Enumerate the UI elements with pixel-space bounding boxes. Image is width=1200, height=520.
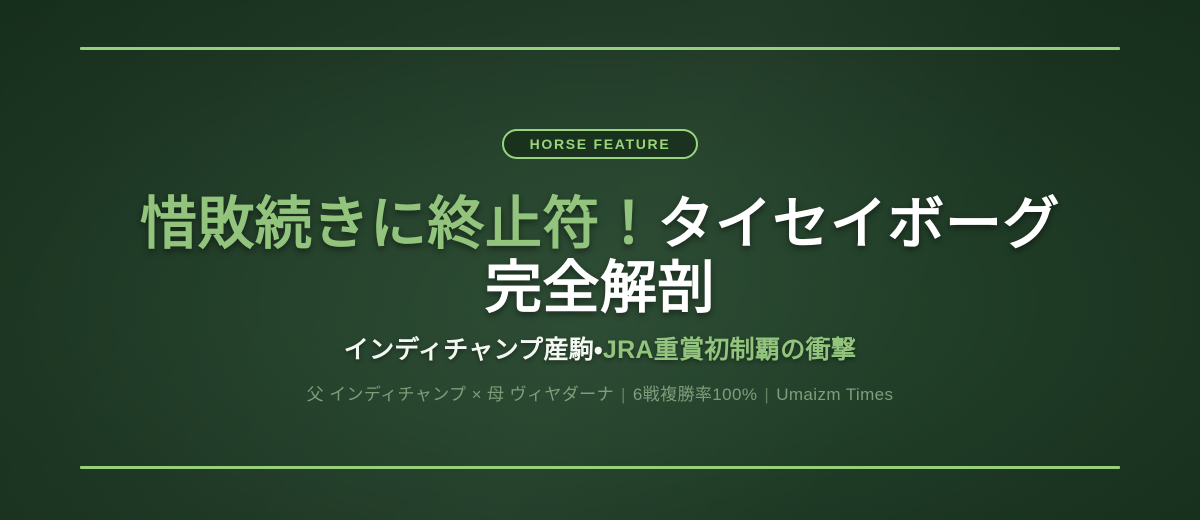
category-badge-label: HORSE FEATURE: [530, 137, 671, 151]
meta-record: 6戦複勝率100%: [633, 385, 758, 404]
meta-cross-symbol: ×: [472, 385, 482, 404]
meta-line: 父 インディチャンプ × 母 ヴィヤダーナ|6戦複勝率100%|Umaizm T…: [50, 384, 1150, 406]
banner-content: HORSE FEATURE 惜敗続きに終止符！タイセイボーグ完全解剖 インディチ…: [0, 0, 1200, 520]
meta-source: Umaizm Times: [776, 385, 893, 404]
meta-separator-2: |: [757, 385, 776, 404]
subtitle-white-segment: インディチャンプ産駒・: [344, 336, 603, 364]
headline-accent-text: 惜敗続きに終止符: [140, 192, 600, 256]
headline: 惜敗続きに終止符！タイセイボーグ完全解剖: [50, 193, 1150, 321]
meta-separator-1: |: [614, 385, 633, 404]
headline-line-2: 完全解剖: [485, 256, 715, 320]
meta-dam: 母 ヴィヤダーナ: [487, 385, 614, 404]
meta-sire: 父 インディチャンプ: [307, 385, 467, 404]
headline-exclamation-mark: ！: [600, 192, 658, 256]
horse-feature-banner: HORSE FEATURE 惜敗続きに終止符！タイセイボーグ完全解剖 インディチ…: [0, 0, 1200, 520]
headline-horse-name: タイセイボーグ: [658, 192, 1061, 256]
subtitle: インディチャンプ産駒・JRA重賞初制覇の衝撃: [50, 335, 1150, 365]
subtitle-accent-segment: JRA重賞初制覇の衝撃: [603, 336, 856, 364]
category-badge: HORSE FEATURE: [502, 129, 699, 159]
